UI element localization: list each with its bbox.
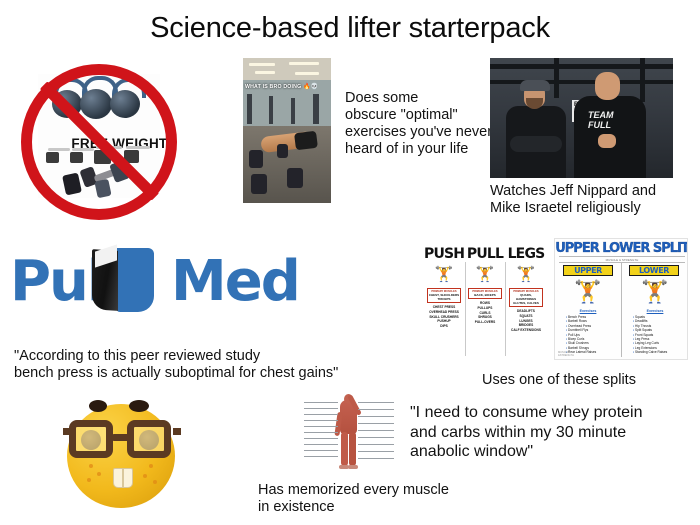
emoji-freckle: [153, 480, 157, 484]
anatomy-right-foot: [348, 465, 358, 469]
hoodie-text: TEAM FULL: [588, 110, 614, 130]
anatomy-leader-line: [358, 423, 394, 424]
push-primary-muscles: CHEST, SHOULDERS TRICEPS: [428, 293, 460, 301]
person-2-head: [595, 72, 620, 100]
ceiling-beam: [640, 58, 645, 102]
lower-exercise-list: Squats Deadlifts Hip Thrusts Split Squat…: [625, 315, 685, 355]
anatomy-leader-line: [358, 437, 394, 438]
ceiling-lamp: [289, 62, 319, 65]
ppl-headers: PUSH PULL LEGS: [424, 246, 546, 262]
muscle-anatomy-diagram: [300, 392, 397, 472]
anatomy-leader-line: [304, 438, 338, 439]
gym-rack: [291, 98, 295, 124]
emoji-hair: [129, 400, 149, 412]
dumbbell-icon: [249, 150, 263, 168]
uls-upper-label: UPPER: [563, 265, 613, 276]
fire-emoji-icon: 🔥💀: [303, 83, 318, 90]
glasses-bridge: [111, 434, 133, 441]
uls-title: UPPER LOWER SPLIT: [555, 241, 688, 256]
upper-exercises-header: Exercises: [558, 309, 618, 313]
list-item: Standing Calve Raises: [633, 350, 685, 354]
uls-divider: [621, 263, 622, 357]
ppl-header-push: PUSH: [424, 246, 464, 262]
pubmed-book-icon: [92, 248, 154, 314]
glasses-lens-left: [69, 420, 113, 458]
legs-primary-muscles: QUADS, HAMSTRINGS GLUTES, CALVES: [510, 293, 542, 305]
pubmed-logo: PubMed: [10, 248, 235, 320]
ceiling-beam: [490, 64, 673, 69]
gym-rack: [313, 94, 319, 124]
influencers-photo: RE MUSCLE BLITZ TEAM FULL: [490, 58, 673, 178]
uls-rule: [559, 256, 685, 257]
person-2-hands: [598, 134, 616, 148]
upper-exercise-list: Bench Press Barbell Rows Overhead Press …: [558, 315, 618, 355]
anatomy-left-leg: [341, 432, 348, 466]
uls-rule: [559, 262, 685, 263]
anatomy-leader-line: [304, 408, 338, 409]
anatomy-leader-line: [304, 450, 338, 451]
emoji-hair: [89, 400, 107, 412]
dumbbell-icon: [287, 168, 303, 188]
anatomy-leader-line: [358, 444, 394, 445]
page-title: Science-based lifter starterpack: [0, 12, 700, 45]
emoji-teeth-divider: [122, 468, 124, 488]
push-pull-legs-infographic: PUSH PULL LEGS 🏋️ PRIMARY MUSCLES CHEST,…: [424, 244, 546, 359]
person-1-cap: [520, 80, 550, 91]
ceiling-beam: [554, 58, 559, 98]
glasses-temple-right: [173, 428, 181, 435]
person-1-crossed-arms: [510, 136, 562, 152]
upper-figure-icon: 🏋️: [558, 279, 618, 305]
anatomy-leader-line: [358, 409, 394, 410]
book-right-page: [116, 248, 154, 312]
nerd-face-emoji: [63, 398, 181, 516]
gym-photo-bro-doing: WHAT IS BRO DOING 🔥💀: [243, 58, 331, 203]
anatomy-right-leg: [349, 432, 356, 466]
legs-primary-box: PRIMARY MUSCLES QUADS, HAMSTRINGS GLUTES…: [509, 288, 543, 307]
uls-lower-label: LOWER: [629, 265, 679, 276]
glasses-lens-right: [127, 420, 171, 458]
hoodie-line-1: TEAM: [588, 110, 614, 120]
push-exercises: CHEST PRESS OVERHEAD PRESS SKULL CRUSHER…: [424, 305, 464, 328]
emoji-freckle: [149, 464, 153, 468]
caption-peer-reviewed: "According to this peer reviewed study b…: [14, 348, 364, 382]
ppl-column-push: 🏋️ PRIMARY MUSCLES CHEST, SHOULDERS TRIC…: [424, 264, 464, 328]
caption-uses-splits: Uses one of these splits: [482, 372, 700, 389]
ppl-header-pull: PULL: [465, 246, 505, 262]
emoji-freckle: [87, 478, 91, 482]
push-primary-box: PRIMARY MUSCLES CHEST, SHOULDERS TRICEPS: [427, 288, 461, 303]
dumbbell-icon: [277, 144, 288, 158]
anatomy-leader-line: [304, 414, 338, 415]
anatomy-leader-line: [358, 402, 394, 403]
meme-canvas: Science-based lifter starterpack FREE WE…: [0, 0, 700, 525]
ceiling-beam: [490, 80, 673, 84]
pubmed-wordmark: PubMed: [10, 254, 299, 310]
anatomy-leader-line: [304, 456, 338, 457]
no-free-weights-sign: FREE WEIGHTS: [14, 62, 184, 212]
caption-influencers: Watches Jeff Nippard and Mike Israetel r…: [490, 183, 690, 217]
pull-primary-muscles: BACK, BICEPS: [469, 293, 501, 297]
photo-overlay-text: WHAT IS BRO DOING: [245, 84, 301, 90]
anatomy-leader-line: [304, 402, 338, 403]
ceiling-lamp: [295, 72, 319, 75]
ceiling-lamp: [255, 71, 275, 74]
lower-exercises-header: Exercises: [625, 309, 685, 313]
caption-anabolic-window: "I need to consume whey protein and carb…: [410, 403, 695, 462]
ppl-header-legs: LEGS: [506, 246, 546, 262]
hoodie-line-2: FULL: [588, 120, 611, 130]
anatomy-leader-line: [358, 451, 394, 452]
dumbbell-icon: [251, 174, 267, 194]
legs-exercises: DEADLIFTS SQUATS LUNGES BRIDGES CALF EXT…: [506, 309, 546, 332]
emoji-freckle: [97, 472, 101, 476]
pull-figure-icon: 🏋️: [465, 264, 505, 286]
caption-memorized-muscles: Has memorized every muscle in existence: [258, 482, 488, 516]
upper-lower-split-infographic: UPPER LOWER SPLIT MUSCLE & STRENGTH UPPE…: [554, 238, 688, 360]
anatomy-leader-line: [304, 420, 338, 421]
ceiling-lamp: [249, 63, 275, 66]
uls-credit: MUSCLE&STRENGTH: [558, 351, 574, 357]
push-figure-icon: 🏋️: [424, 264, 464, 286]
gym-rack: [269, 96, 273, 124]
emoji-freckle: [89, 464, 93, 468]
anatomy-leader-line: [358, 430, 394, 431]
ppl-column-pull: 🏋️ PRIMARY MUSCLES BACK, BICEPS ROWS PUL…: [465, 264, 505, 324]
lifter-shorts: [294, 131, 318, 151]
gym-rack: [247, 94, 252, 124]
emoji-freckle: [143, 474, 147, 478]
legs-figure-icon: 🏋️: [506, 264, 546, 286]
lower-figure-icon: 🏋️: [625, 279, 685, 305]
anatomy-leader-line: [358, 416, 394, 417]
anatomy-leader-line: [304, 444, 338, 445]
pull-primary-box: PRIMARY MUSCLES BACK, BICEPS: [468, 288, 502, 299]
anatomy-leader-line: [304, 426, 338, 427]
anatomy-leader-line: [304, 432, 338, 433]
anatomy-leader-line: [358, 458, 394, 459]
pull-exercises: ROWS PULLUPS CURLS SHRUGS PULL-OVERS: [465, 301, 505, 324]
ppl-column-legs: 🏋️ PRIMARY MUSCLES QUADS, HAMSTRINGS GLU…: [506, 264, 546, 332]
